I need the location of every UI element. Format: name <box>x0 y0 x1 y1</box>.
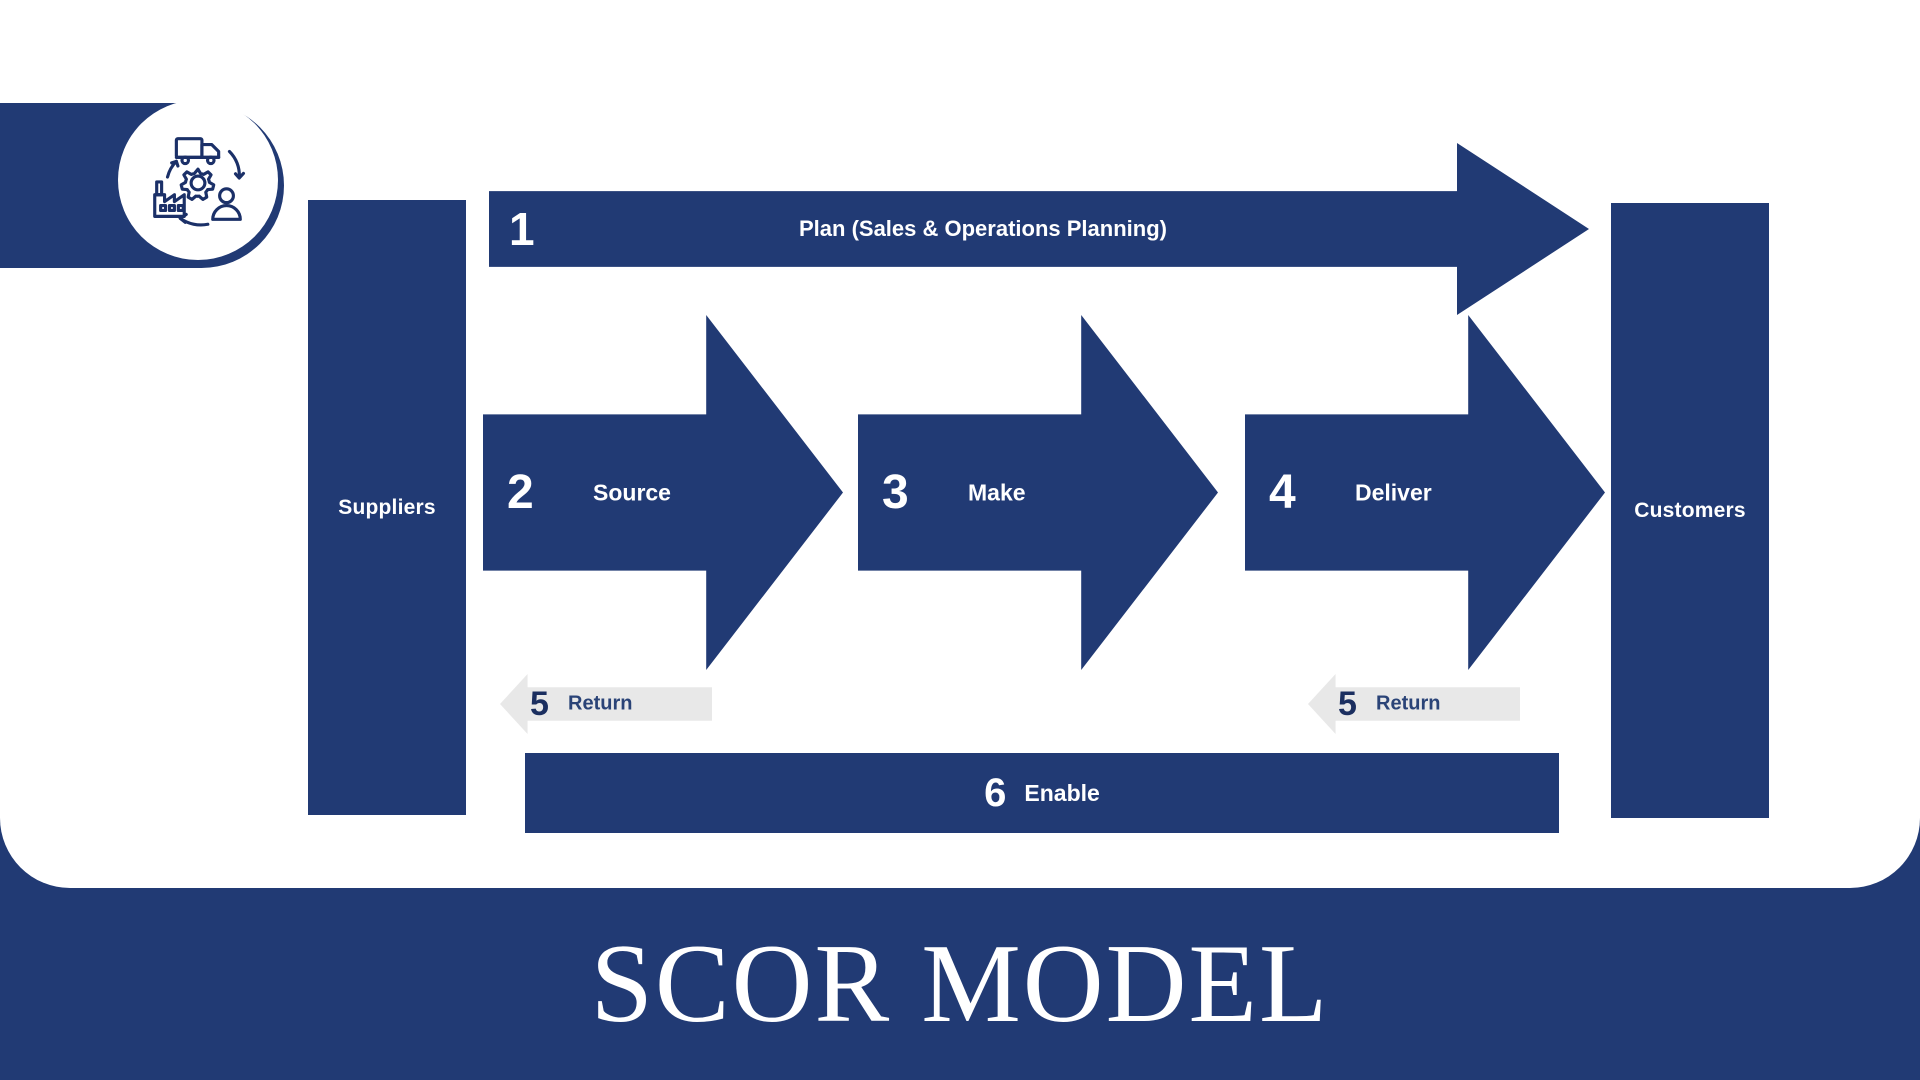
customers-bar: Customers <box>1611 203 1769 818</box>
process-label-deliver: Deliver <box>1355 479 1432 506</box>
enable-label: Enable <box>1024 780 1099 807</box>
slide-canvas: Suppliers Customers 1 Plan (Sales & Oper… <box>0 0 1920 1080</box>
return-number-right: 5 <box>1338 687 1357 721</box>
return-label-left: Return <box>568 693 632 716</box>
return-label-right: Return <box>1376 693 1440 716</box>
return-number-left: 5 <box>530 687 549 721</box>
suppliers-bar: Suppliers <box>308 200 466 815</box>
bottom-banner: SCOR MODEL <box>0 888 1920 1080</box>
process-label-make: Make <box>968 479 1026 506</box>
suppliers-label: Suppliers <box>338 496 436 520</box>
banner-title: SCOR MODEL <box>591 928 1330 1040</box>
enable-bar[interactable]: 6 Enable <box>525 753 1559 833</box>
process-label-source: Source <box>593 479 671 506</box>
enable-number: 6 <box>984 773 1006 813</box>
logo-circle <box>118 100 278 260</box>
supply-chain-cycle-icon <box>139 121 257 239</box>
customers-label: Customers <box>1634 499 1746 523</box>
process-number-3: 3 <box>882 469 909 517</box>
process-number-2: 2 <box>507 469 534 517</box>
process-number-1: 1 <box>509 206 535 252</box>
process-number-4: 4 <box>1269 469 1296 517</box>
process-label-plan: Plan (Sales & Operations Planning) <box>799 216 1167 242</box>
